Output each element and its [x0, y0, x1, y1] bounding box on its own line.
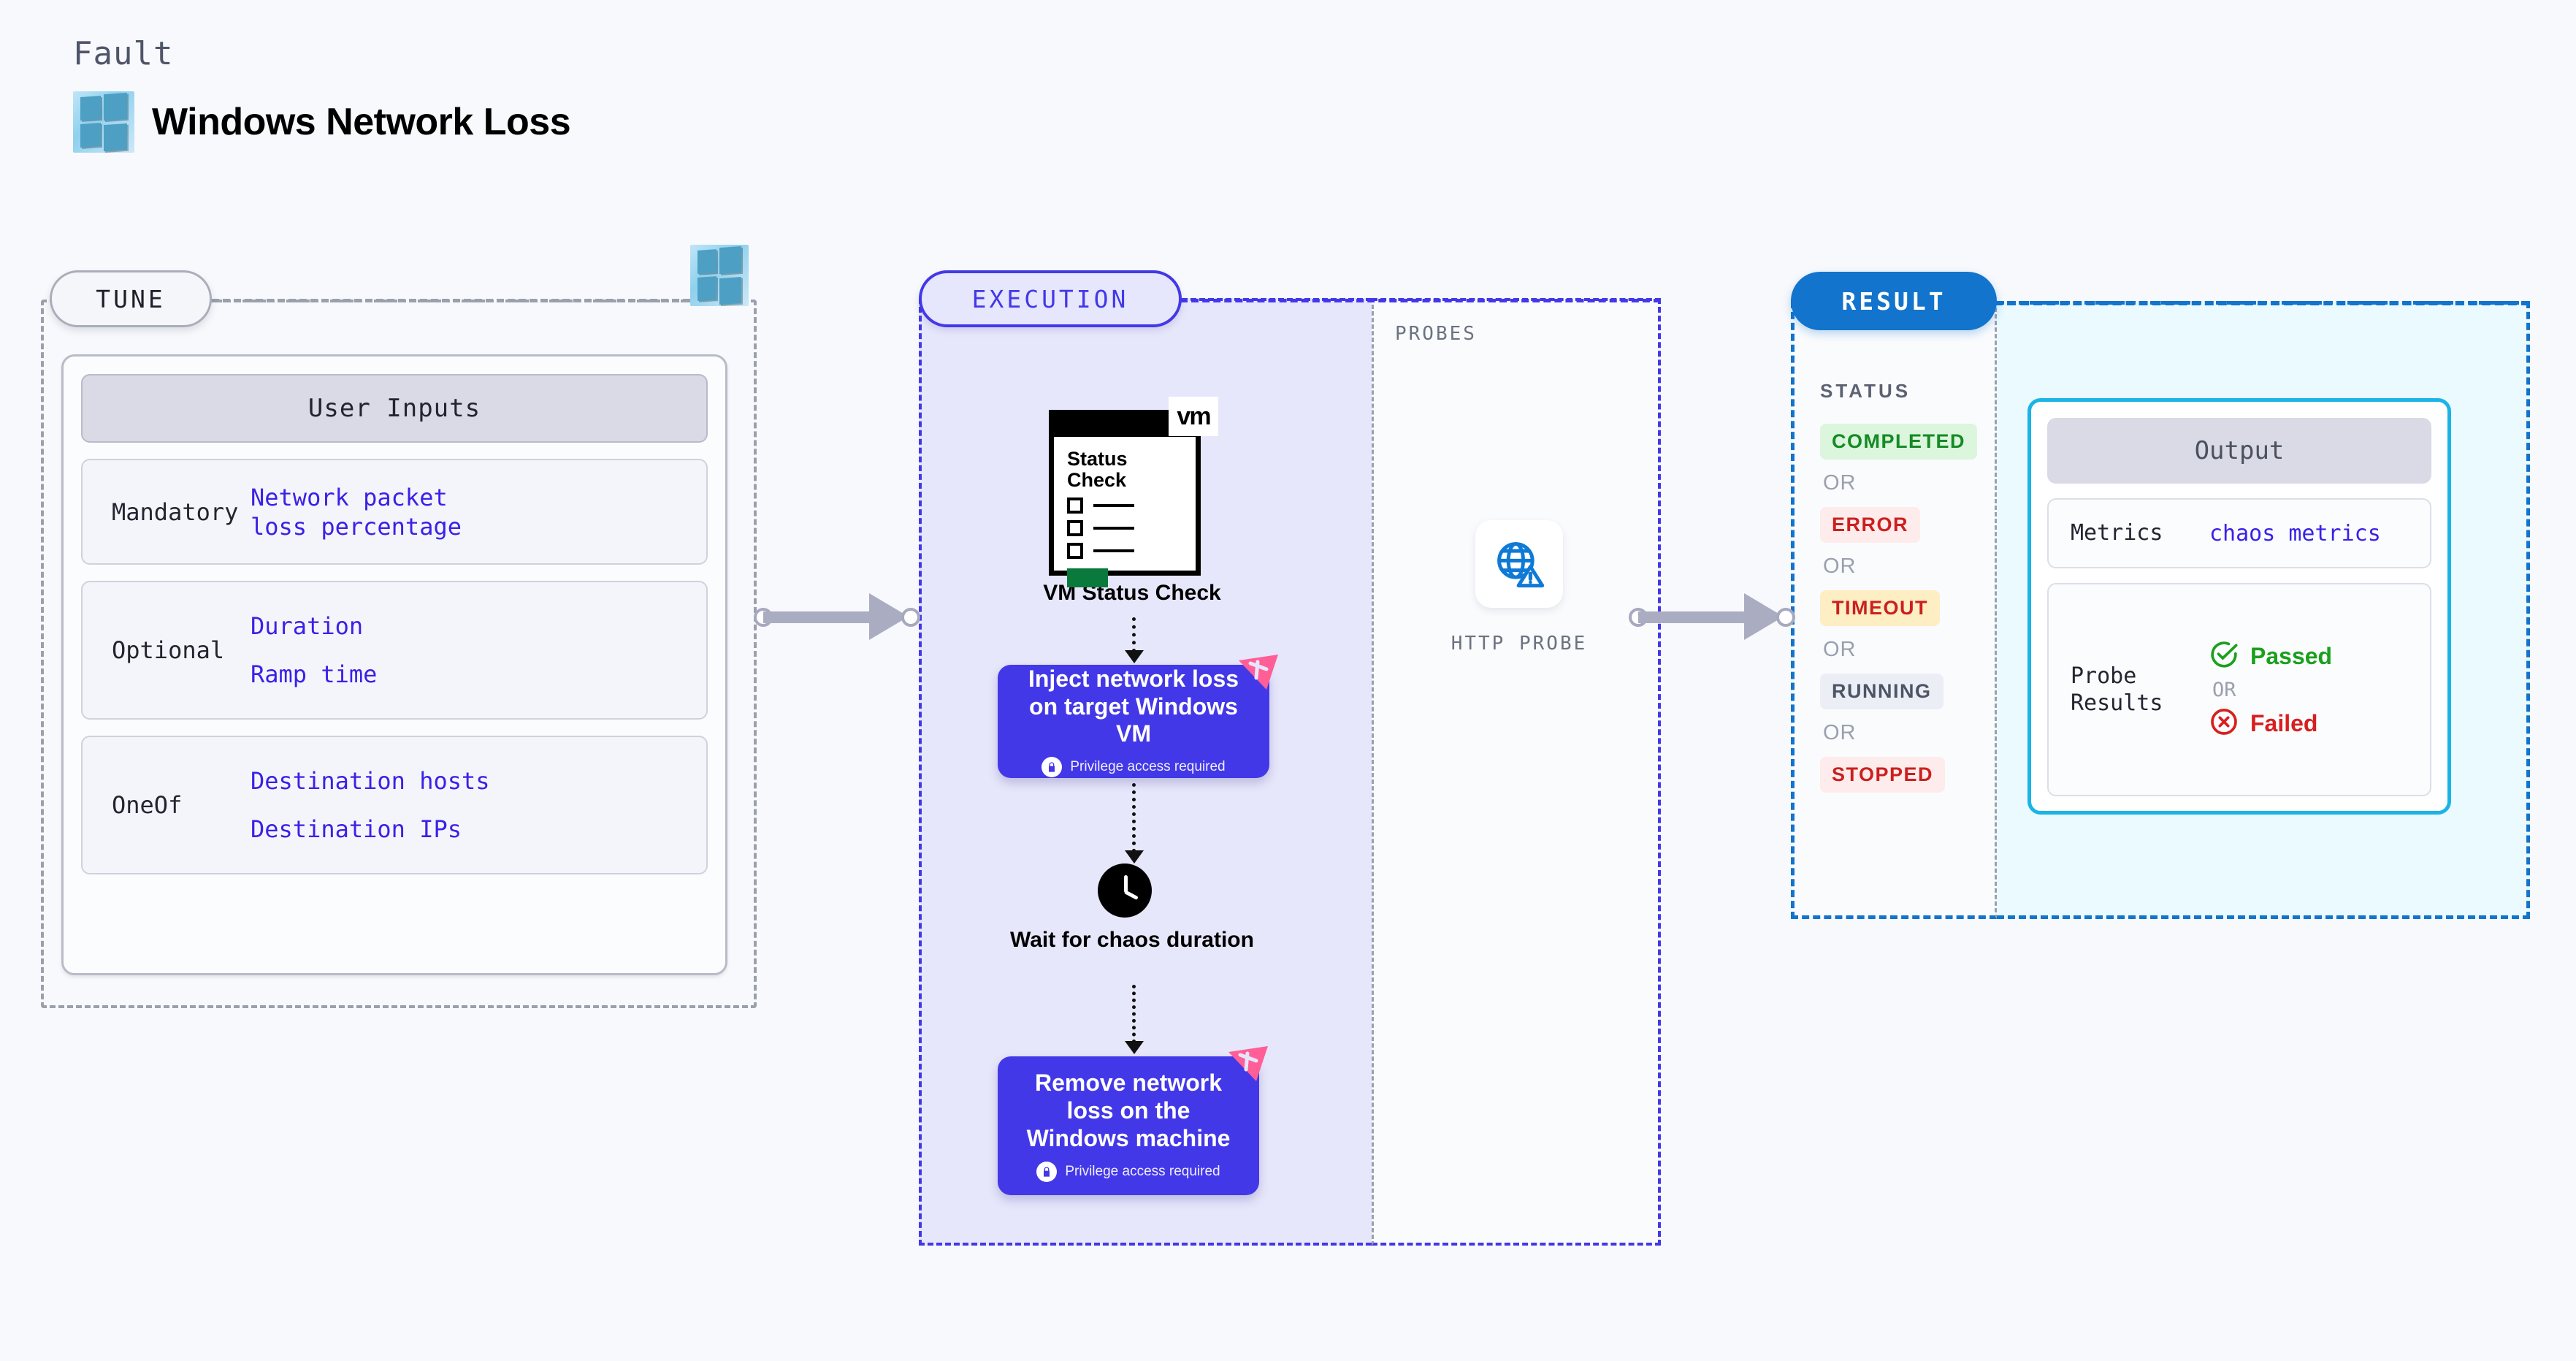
connector-probes-to-result: [1629, 593, 1804, 640]
fault-corner-badge-icon: [1227, 1045, 1269, 1083]
vm-status-check-icon: Status Check vm: [1049, 397, 1218, 576]
status-or-label: OR: [1823, 721, 1988, 745]
node-title: Remove network loss on the Windows machi…: [998, 1070, 1259, 1152]
probes-title: PROBES: [1395, 323, 1477, 345]
metrics-value[interactable]: chaos metrics: [2209, 521, 2381, 546]
result-dashed-connector: [1994, 301, 2530, 305]
fault-corner-badge-icon: [1237, 653, 1280, 691]
page-title-row: Windows Network Loss: [73, 91, 570, 153]
vm-card-line1: Status: [1067, 449, 1196, 470]
param-group-oneof: OneOf Destination hosts Destination IPs: [81, 736, 708, 874]
tune-badge: TUNE: [50, 270, 212, 327]
metrics-label: Metrics: [2071, 519, 2209, 547]
probe-result-failed: Failed: [2209, 707, 2332, 740]
flow-arrow: [1125, 650, 1144, 663]
node-subtitle-row: Privilege access required: [1036, 1162, 1220, 1182]
page-kicker: Fault: [73, 35, 173, 72]
flow-line: [1132, 985, 1136, 1043]
http-probe-label: HTTP PROBE: [1410, 633, 1629, 655]
flow-line: [1132, 617, 1136, 652]
param-group-label: OneOf: [112, 791, 251, 819]
output-title: Output: [2047, 418, 2431, 484]
probes-container: [1372, 298, 1661, 1246]
node-subtitle: Privilege access required: [1070, 759, 1225, 775]
param-value[interactable]: Destination IPs: [251, 815, 490, 844]
node-remove-network-loss[interactable]: Remove network loss on the Windows machi…: [998, 1056, 1259, 1195]
flow-arrow: [1125, 850, 1144, 864]
probe-result-passed: Passed: [2209, 640, 2332, 673]
param-group-label: Mandatory: [112, 498, 251, 526]
param-group-label: Optional: [112, 636, 251, 664]
param-value[interactable]: Destination hosts: [251, 766, 490, 796]
probe-result-or-label: OR: [2212, 679, 2332, 701]
param-value[interactable]: Duration: [251, 611, 377, 641]
param-value[interactable]: Ramp time: [251, 660, 377, 689]
node-inject-network-loss[interactable]: Inject network loss on target Windows VM…: [998, 665, 1269, 778]
status-or-label: OR: [1823, 638, 1988, 662]
result-badge: RESULT: [1791, 272, 1997, 330]
user-inputs-title: User Inputs: [81, 374, 708, 443]
lock-icon: [1042, 757, 1062, 777]
clock-icon: [1098, 864, 1152, 918]
output-card: Output Metrics chaos metrics Probe Resul…: [2027, 398, 2451, 815]
probe-results-label: Probe Results: [2071, 663, 2209, 717]
output-row-metrics: Metrics chaos metrics: [2047, 498, 2431, 568]
status-badge: STOPPED: [1820, 757, 1945, 793]
check-circle-icon: [2209, 640, 2239, 673]
tune-dashed-connector: [212, 299, 690, 302]
node-subtitle-row: Privilege access required: [1042, 757, 1225, 777]
node-title: Inject network loss on target Windows VM: [998, 666, 1269, 748]
param-group-mandatory: Mandatory Network packet loss percentage: [81, 459, 708, 565]
status-badge: RUNNING: [1820, 674, 1944, 709]
status-badge: ERROR: [1820, 507, 1920, 543]
status-or-label: OR: [1823, 554, 1988, 579]
status-title: STATUS: [1820, 380, 1911, 403]
param-value[interactable]: Network packet loss percentage: [251, 483, 492, 541]
failed-label: Failed: [2250, 710, 2317, 737]
diagram-canvas: Fault Windows Network Loss TUNE User Inp…: [0, 0, 2576, 1361]
status-list: COMPLETED OR ERROR OR TIMEOUT OR RUNNING…: [1820, 424, 1988, 793]
execution-dashed-connector: [1180, 299, 1661, 302]
globe-warning-icon[interactable]: [1475, 520, 1563, 608]
flow-line: [1132, 783, 1136, 853]
status-or-label: OR: [1823, 471, 1988, 495]
connector-tune-to-execution: [754, 593, 929, 640]
param-group-optional: Optional Duration Ramp time: [81, 581, 708, 720]
wait-for-chaos-duration-label: Wait for chaos duration: [971, 928, 1293, 953]
x-circle-icon: [2209, 707, 2239, 740]
tune-windows-logo-icon: [690, 245, 749, 306]
passed-label: Passed: [2250, 643, 2332, 670]
node-subtitle: Privilege access required: [1065, 1164, 1220, 1180]
windows-logo-icon: [73, 91, 134, 153]
status-badge: COMPLETED: [1820, 424, 1977, 460]
status-badge: TIMEOUT: [1820, 590, 1940, 626]
execution-badge: EXECUTION: [919, 270, 1182, 327]
flow-arrow: [1125, 1041, 1144, 1054]
user-inputs-card: User Inputs Mandatory Network packet los…: [61, 354, 727, 975]
vm-tag-label: vm: [1169, 397, 1218, 436]
vm-card-line2: Check: [1067, 470, 1196, 491]
lock-icon: [1036, 1162, 1057, 1182]
output-row-probe-results: Probe Results Passed OR: [2047, 583, 2431, 796]
page-title: Windows Network Loss: [152, 100, 570, 144]
